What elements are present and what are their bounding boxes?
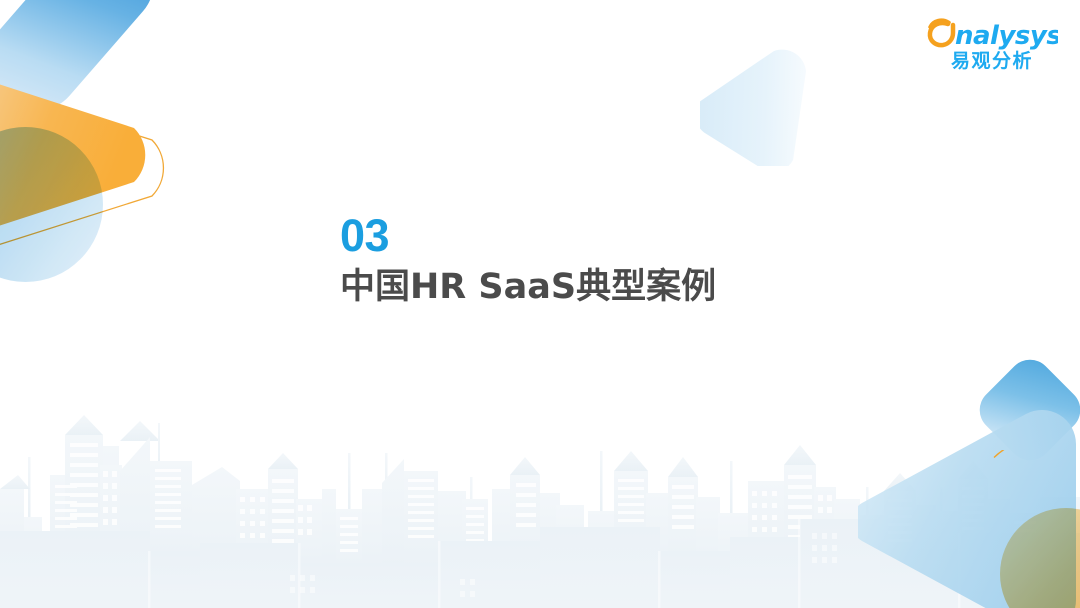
rounded-triangle-orange-gradient-icon [0,0,182,292]
rounded-triangle-orange-outline-icon [0,0,210,320]
slide-canvas: nalysys 易观分析 03 中国HR SaaS典型案例 [0,0,1080,608]
circle-orange-gradient-icon [1000,508,1080,608]
section-title: 中国HR SaaS典型案例 [340,267,716,308]
rounded-bar-blue-gradient-icon [0,0,172,129]
circle-light-blue-icon [0,127,103,282]
arc-orange-thin-icon [962,450,1080,600]
rounded-square-blue-gradient-icon [971,351,1080,470]
analysys-swoosh-a-icon: nalysys [926,16,1058,50]
section-number: 03 [340,212,716,259]
title-block: 03 中国HR SaaS典型案例 [340,212,716,309]
logo-chinese-name: 易观分析 [926,51,1058,73]
rounded-triangle-pale-blue-icon [700,36,830,166]
rounded-triangle-blue-left-icon [858,408,1080,608]
svg-text:nalysys: nalysys [955,21,1058,50]
city-skyline-silhouette-icon [0,393,1080,608]
analysys-logo: nalysys 易观分析 [926,16,1058,73]
